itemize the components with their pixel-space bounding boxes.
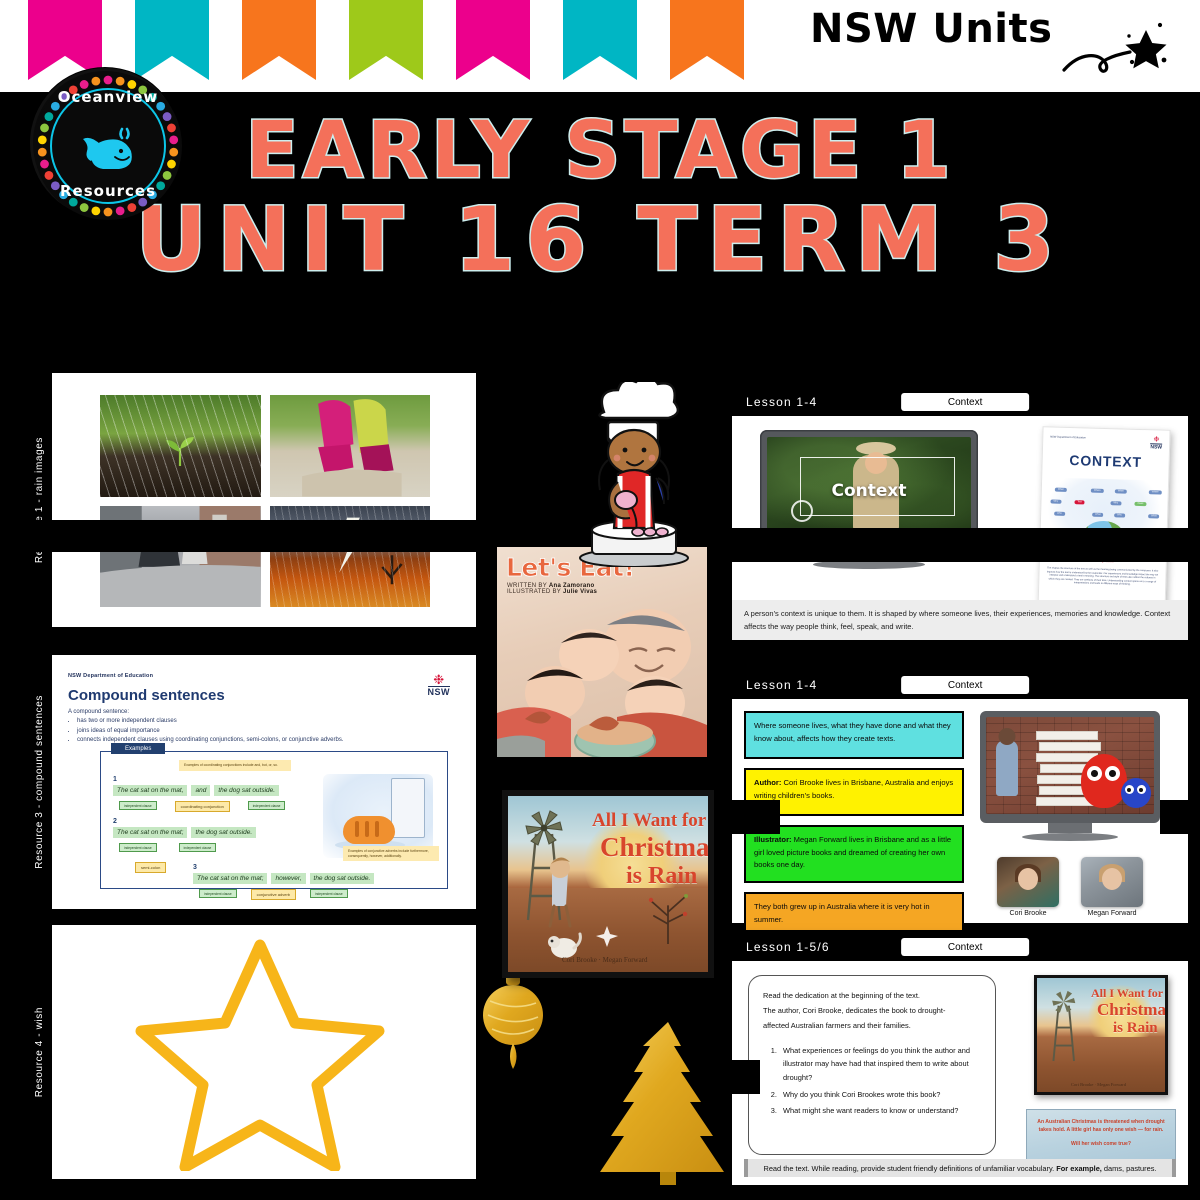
- poster-body-text: The shapes the structure of the text as …: [1046, 566, 1158, 587]
- bunting-flag: [349, 0, 423, 80]
- book-credits: Cori Brooke · Megan Forward: [562, 956, 648, 964]
- slide-body: Read the dedication at the beginning of …: [732, 961, 1188, 1185]
- lesson-slide-dedication-questions[interactable]: Lesson 1-5/6 Context Read the dedication…: [732, 933, 1188, 1185]
- chip-independent-clause: independent clause: [179, 843, 217, 852]
- bunting-flag: [563, 0, 637, 80]
- card-lead: Read the dedication at the beginning of …: [763, 988, 983, 1034]
- bunting-flag: [670, 0, 744, 80]
- logo-bottom-word: Resources: [33, 182, 183, 200]
- map-node: What: [1148, 514, 1159, 519]
- resource-sheet: [52, 381, 468, 619]
- blurb-line: An Australian Christmas is threatened wh…: [1033, 1118, 1169, 1134]
- lesson-label: Lesson 1-4: [746, 678, 817, 692]
- oceanview-resources-logo: Oceanview Resources: [30, 68, 180, 218]
- rain-photo-grid: [100, 395, 430, 607]
- poster-title: CONTEXT: [1049, 451, 1161, 470]
- joiner: however,: [271, 873, 305, 884]
- note-conjunctive-adverbs: Examples of conjunctive adverbs include …: [343, 846, 439, 861]
- compound-sentences-bullets: A compound sentence: has two or more ind…: [68, 708, 452, 745]
- note-post: dams, pastures.: [1102, 1164, 1157, 1173]
- bullets-intro: A compound sentence:: [68, 708, 452, 717]
- map-node: Why: [1110, 501, 1121, 506]
- tv-frame: [980, 711, 1160, 823]
- children-boots-icon: [270, 395, 431, 497]
- cat-icon: [343, 816, 395, 844]
- resource-tab: Resource 1 - rain images: [26, 373, 52, 627]
- television-author-video[interactable]: [980, 711, 1160, 841]
- door-icon: [391, 778, 425, 838]
- bullet-item: joins ideas of equal importance: [77, 727, 452, 736]
- lesson-label: Lesson 1-4: [746, 395, 817, 409]
- star-swirl-icon: [1060, 16, 1170, 78]
- map-node-text: Text: [1074, 500, 1084, 505]
- context-badge: Context: [901, 676, 1029, 694]
- resource-tab: Resource 4 - wish: [26, 925, 52, 1179]
- context-poster[interactable]: NSW Department of Education ❉ NSW CONTEX…: [1037, 426, 1170, 615]
- windmill-icon: [1047, 986, 1083, 1064]
- question-item: What might she want readers to know or u…: [779, 1104, 983, 1118]
- examples-box: Examples 1 The cat sat on the mat, and t…: [100, 751, 448, 889]
- bunting-flag: [135, 0, 209, 80]
- family-illustration: [497, 607, 707, 757]
- map-node: Where: [1149, 490, 1162, 495]
- questions-card: Read the dedication at the beginning of …: [748, 975, 996, 1155]
- book-cover-art: All I Want for Christmas is Rain Cori Br…: [508, 796, 708, 972]
- map-node-class: Class: [1134, 502, 1146, 507]
- girl-chef-with-cake-icon: [570, 382, 698, 567]
- note-pre: Read the text. While reading, provide st…: [763, 1164, 1056, 1173]
- logo-top-word: Oceanview: [33, 88, 183, 106]
- slide-header-bar: Lesson 1-5/6 Context: [732, 933, 1188, 961]
- slide-header-bar: Lesson 1-4 Context: [732, 671, 1188, 699]
- clause-b: the dog sat outside.: [191, 827, 256, 838]
- book-title-line-1: All I Want for: [1091, 986, 1163, 1001]
- chip-joiner: coordinating conjunction: [175, 801, 230, 812]
- nsw-government-logo: ❉ NSW: [428, 673, 451, 697]
- gold-christmas-ornament-icon: [480, 975, 546, 1071]
- nsw-government-logo: ❉ NSW: [1150, 436, 1162, 450]
- blue-character-icon: [1121, 778, 1151, 808]
- waratah-icon: ❉: [428, 673, 451, 686]
- fact-label: Illustrator:: [754, 835, 792, 844]
- author-illustrator-photos: Cori Brooke Megan Forward: [970, 857, 1170, 917]
- clause-b: the dog sat outside.: [214, 785, 279, 796]
- tv-screen: [986, 717, 1154, 814]
- dept-line: NSW Department of Education: [68, 673, 452, 679]
- book-cover-all-i-want-for-christmas-is-rain[interactable]: All I Want for Christmas is Rain Cori Br…: [502, 790, 714, 978]
- video-overlay-title: Context: [767, 481, 971, 501]
- context-badge: Context: [901, 938, 1029, 956]
- fact-label: Author:: [754, 778, 781, 787]
- bunting-flag: [456, 0, 530, 80]
- map-node: Where: [1091, 489, 1104, 494]
- red-character-icon: [1081, 754, 1127, 808]
- resource-panel-rain-images[interactable]: Resource 1 - rain images: [26, 373, 476, 627]
- cori-brooke-photo: [997, 857, 1059, 907]
- resource-sheet: NSW Department of Education ❉ NSW Compou…: [52, 663, 468, 901]
- blurb-question: Will her wish come true?: [1033, 1140, 1169, 1148]
- chip-independent-clause: independent clause: [199, 889, 237, 898]
- chip-joiner: semi-colon: [135, 862, 166, 873]
- fact-text: Where someone lives, what they have done…: [754, 721, 951, 743]
- book-title-line-3: is Rain: [1113, 1020, 1158, 1037]
- lesson-slide-author-illustrator[interactable]: Lesson 1-4 Context Where someone lives, …: [732, 671, 1188, 923]
- lead-line: affected Australian farmers and their fa…: [763, 1018, 983, 1033]
- map-node: When: [1115, 489, 1127, 494]
- decor-ribbon: [1160, 800, 1200, 834]
- fact-text: Cori Brooke lives in Brisbane, Australia…: [754, 778, 953, 800]
- book-title-line-2: Christmas: [600, 832, 708, 863]
- illustrator-photo-card[interactable]: Megan Forward: [1081, 857, 1143, 917]
- poster-root: NSW Units Oceanview Resources: [0, 0, 1200, 1200]
- lead-line: The author, Cori Brooke, dedicates the b…: [763, 1003, 983, 1018]
- lead-line: Read the dedication at the beginning of …: [763, 988, 983, 1003]
- example-3: 3 The cat sat on the mat; however, the d…: [193, 864, 374, 900]
- slide-caption: A person's context is unique to them. It…: [732, 600, 1188, 640]
- chip-independent-clause: independent clause: [310, 889, 348, 898]
- resource-sheet: [52, 933, 468, 1171]
- chip-independent-clause: independent clause: [248, 801, 286, 810]
- bunting-flag: [242, 0, 316, 80]
- gold-christmas-tree-icon: [600, 1020, 736, 1185]
- clause-a: The cat sat on the mat;: [193, 873, 267, 884]
- illustrator-name: Megan Forward: [1081, 910, 1143, 917]
- chip-independent-clause: independent clause: [119, 843, 157, 852]
- question-list: What experiences or feelings do you thin…: [779, 1044, 983, 1118]
- clause-a: The cat sat on the mat;: [113, 827, 187, 838]
- map-node: What: [1092, 513, 1103, 518]
- star-outline-icon: [129, 933, 391, 1171]
- tv-screen: Context Understanding context video: [767, 437, 971, 538]
- cyan-fact-box: Where someone lives, what they have done…: [744, 711, 964, 759]
- children-jumping-in-puddle-photo: [270, 395, 431, 497]
- book-title-line-3: is Rain: [626, 863, 697, 890]
- book-title-line-1: All I Want for: [592, 810, 706, 832]
- resource-tab: Resource 3 - compound sentences: [26, 655, 52, 909]
- context-badge: Context: [901, 393, 1029, 411]
- book-credits: Cori Brooke · Megan Forward: [1071, 1082, 1126, 1087]
- decor-ribbon: [712, 528, 1200, 562]
- bunting-flag: [28, 0, 102, 80]
- lesson-slide-context-video[interactable]: Lesson 1-4 Context Context Understand: [732, 388, 1188, 640]
- megan-forward-photo: [1081, 857, 1143, 907]
- author-photo-card[interactable]: Cori Brooke: [997, 857, 1059, 917]
- chip-joiner: conjunctive adverb: [251, 889, 296, 900]
- teacher-note: Read the text. While reading, provide st…: [744, 1159, 1176, 1177]
- nsw-units-banner: NSW Units: [792, 0, 1192, 92]
- tv-base: [1022, 833, 1118, 841]
- clause-a: The cat sat on the mat,: [113, 785, 187, 796]
- nsw-logo-text: NSW: [428, 686, 451, 697]
- question-item: What experiences or feelings do you thin…: [779, 1044, 983, 1085]
- bullet-item: has two or more independent clauses: [77, 717, 452, 726]
- examples-tag: Examples: [111, 743, 165, 754]
- example-number: 2: [113, 818, 256, 825]
- example-number: 3: [193, 864, 374, 871]
- book-cover-art: All I Want for Christmas is Rain Cori Br…: [1037, 978, 1165, 1092]
- example-number: 1: [113, 776, 285, 783]
- book-title-line-2: Christmas: [1097, 1000, 1165, 1020]
- nsw-logo-text: NSW: [1150, 443, 1162, 450]
- poster-dept-line: NSW Department of Education: [1050, 435, 1162, 441]
- book-cover-thumbnail[interactable]: All I Want for Christmas is Rain Cori Br…: [1034, 975, 1168, 1095]
- book-credits: WRITTEN BY Ana Zamorano ILLUSTRATED BY J…: [507, 583, 597, 595]
- slide-body: Where someone lives, what they have done…: [732, 699, 1188, 923]
- note-coordinating-conjunctions: Examples of coordinating conjunctions in…: [179, 760, 291, 771]
- chip-independent-clause: independent clause: [119, 801, 157, 810]
- book-cover-lets-eat[interactable]: Let's Eat! WRITTEN BY Ana Zamorano ILLUS…: [490, 540, 714, 764]
- question-item: Why do you think Cori Brookes wrote this…: [779, 1088, 983, 1102]
- map-node: Why: [1050, 499, 1061, 504]
- map-node: Who: [1114, 513, 1125, 518]
- animated-girl-character: [996, 740, 1018, 796]
- sprout-icon: [163, 436, 197, 466]
- resource-panel-compound-sentences[interactable]: Resource 3 - compound sentences NSW Depa…: [26, 655, 476, 909]
- shared-fact-box: They both grew up in Australia where it …: [744, 892, 964, 932]
- map-node: When: [1055, 488, 1067, 493]
- example-1: 1 The cat sat on the mat, and the dog sa…: [113, 776, 285, 812]
- fact-text: They both grew up in Australia where it …: [754, 902, 930, 924]
- family-eating-icon: [497, 607, 707, 757]
- tv-stand: [1048, 823, 1092, 833]
- book-cover-art: Let's Eat! WRITTEN BY Ana Zamorano ILLUS…: [497, 547, 707, 757]
- compound-sentences-heading: Compound sentences: [68, 687, 452, 704]
- map-node: Who: [1054, 512, 1065, 517]
- nsw-units-label: NSW Units: [810, 6, 1052, 52]
- author-name: Cori Brooke: [997, 910, 1059, 917]
- whale-icon: [79, 125, 137, 171]
- clause-b: the dog sat outside.: [310, 873, 375, 884]
- slide-header-bar: Lesson 1-4 Context: [732, 388, 1188, 416]
- resource-panel-wish-star[interactable]: Resource 4 - wish: [26, 925, 476, 1179]
- seedling-in-rain-photo: [100, 395, 261, 497]
- decor-ribbon: [0, 520, 520, 552]
- note-bold: For example,: [1056, 1164, 1102, 1173]
- lesson-label: Lesson 1-5/6: [746, 940, 830, 954]
- joiner: and: [191, 785, 210, 796]
